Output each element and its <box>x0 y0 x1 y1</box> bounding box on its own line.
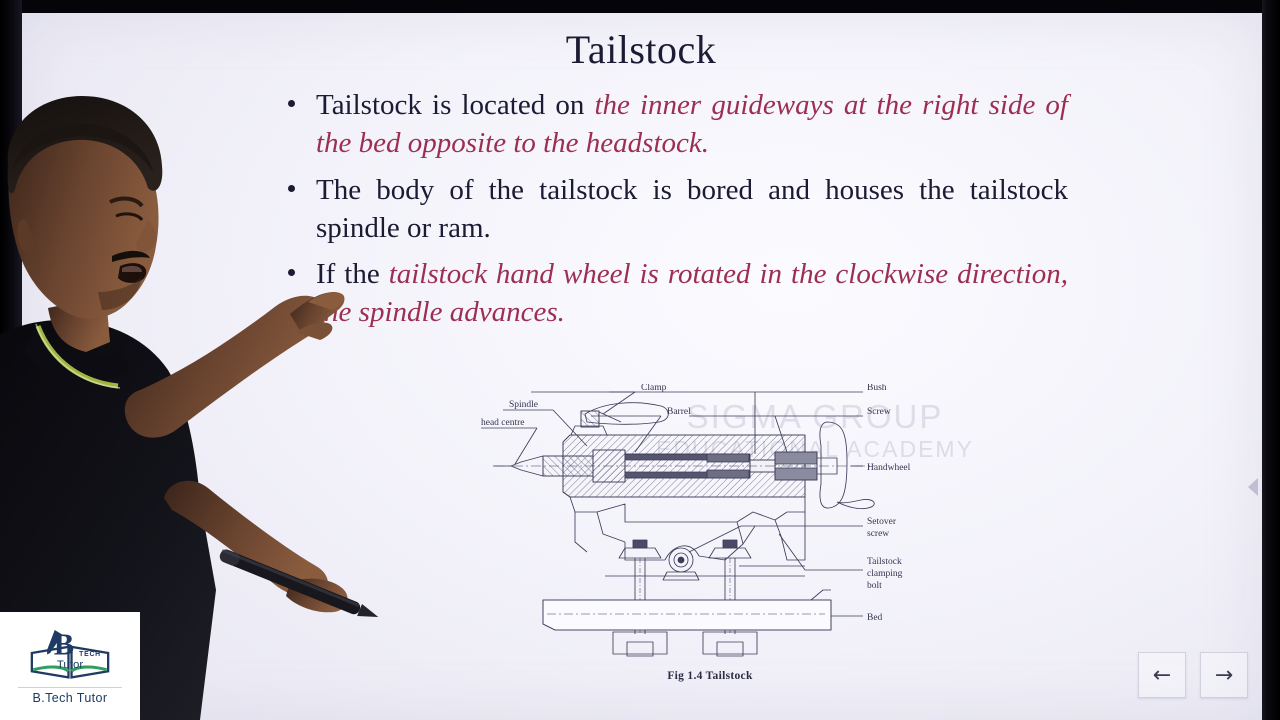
figure-label-handwheel: Handwheel <box>867 463 911 473</box>
page-title: Tailstock <box>20 26 1262 73</box>
screen-bezel-right <box>1262 0 1280 720</box>
bullet-3-emphasis: tailstock hand wheel is rotated in the c… <box>316 258 1068 328</box>
slide-navigation: ← → <box>1138 652 1248 698</box>
logo-caption: B.Tech Tutor <box>33 691 108 705</box>
figure-label-screw: Screw <box>867 407 891 417</box>
bullet-text-1: Tailstock is located on the inner guidew… <box>316 86 1068 163</box>
bullet-text-2: The body of the tailstock is bored and h… <box>316 171 1068 248</box>
figure-label-bush: Bush <box>867 384 887 393</box>
figure-label-bolt-1: Tailstock <box>867 557 902 567</box>
panel-collapse-handle-icon[interactable] <box>1248 478 1258 496</box>
figure-label-bolt-3: bolt <box>867 581 882 591</box>
figure-label-bed: Bed <box>867 613 883 623</box>
tailstock-figure: Spindle head centre Clamp Barrel Bush Sc… <box>475 384 945 704</box>
figure-label-clamp: Clamp <box>641 384 667 393</box>
svg-text:Tutor: Tutor <box>57 659 83 671</box>
bullet-2-plain: The body of the tailstock is bored and h… <box>316 174 1068 244</box>
figure-label-barrel: Barrel <box>667 407 691 417</box>
figure-label-spindle: Spindle <box>509 400 538 410</box>
svg-text:TECH: TECH <box>79 651 101 658</box>
figure-caption: Fig 1.4 Tailstock <box>475 670 945 682</box>
bullet-text-3: If the tailstock hand wheel is rotated i… <box>316 255 1068 332</box>
book-pen-logo-icon: B TECH Tutor <box>24 627 116 685</box>
next-slide-button[interactable]: → <box>1200 652 1248 698</box>
figure-label-head-centre: head centre <box>481 418 525 428</box>
tailstock-diagram-svg: Spindle head centre Clamp Barrel Bush Sc… <box>475 384 945 676</box>
previous-slide-button[interactable]: ← <box>1138 652 1186 698</box>
figure-label-bolt-2: clamping <box>867 569 903 579</box>
figure-label-setover-2: screw <box>867 529 889 539</box>
video-frame: Tailstock Tailstock is located on the in… <box>0 0 1280 720</box>
logo-divider <box>18 687 122 688</box>
figure-label-setover-1: Setover <box>867 517 897 527</box>
screen-bezel-top <box>0 0 1280 13</box>
channel-logo-card: B TECH Tutor B.Tech Tutor <box>0 612 140 720</box>
